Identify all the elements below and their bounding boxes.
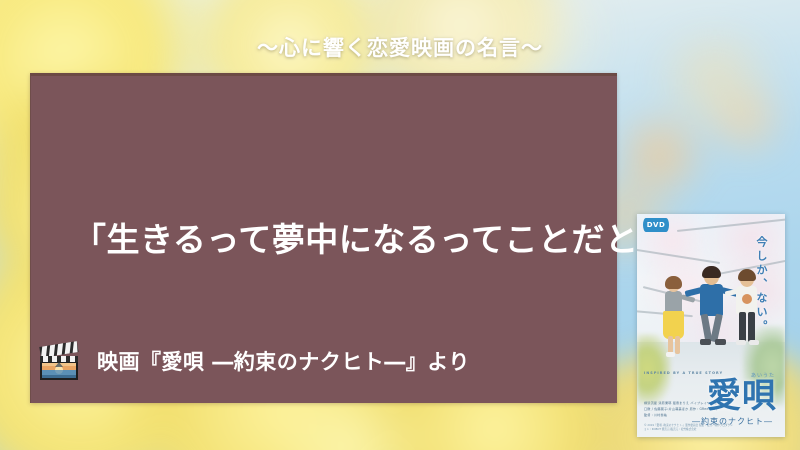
attribution-row: 映画『愛唄 ―約束のナクヒト―』より xyxy=(31,337,617,385)
quote-panel: 「生きるって夢中になるってことだと思う。」 xyxy=(30,73,617,403)
slide-canvas: 〜心に響く恋愛映画の名言〜 「生きるって夢中になるってことだと思う。」 xyxy=(0,0,800,450)
poster-grass-left xyxy=(637,334,671,404)
poster-tagline: 今しか、ない。 xyxy=(753,236,769,334)
poster-english-line: INSPIRED BY A TRUE STORY xyxy=(644,371,723,375)
poster-title: 愛唄 xyxy=(707,379,777,413)
clapperboard-icon xyxy=(35,337,83,385)
attribution-text: 映画『愛唄 ―約束のナクヒト―』より xyxy=(97,346,470,376)
poster-subtitle: ―約束のナクヒト― xyxy=(692,416,773,427)
dvd-badge: DVD xyxy=(643,218,669,232)
movie-poster: DVD 今しか、ない。 INSPIRED BY A TRUE STORY 横浜流… xyxy=(637,214,785,437)
slide-heading: 〜心に響く恋愛映画の名言〜 xyxy=(0,32,800,62)
